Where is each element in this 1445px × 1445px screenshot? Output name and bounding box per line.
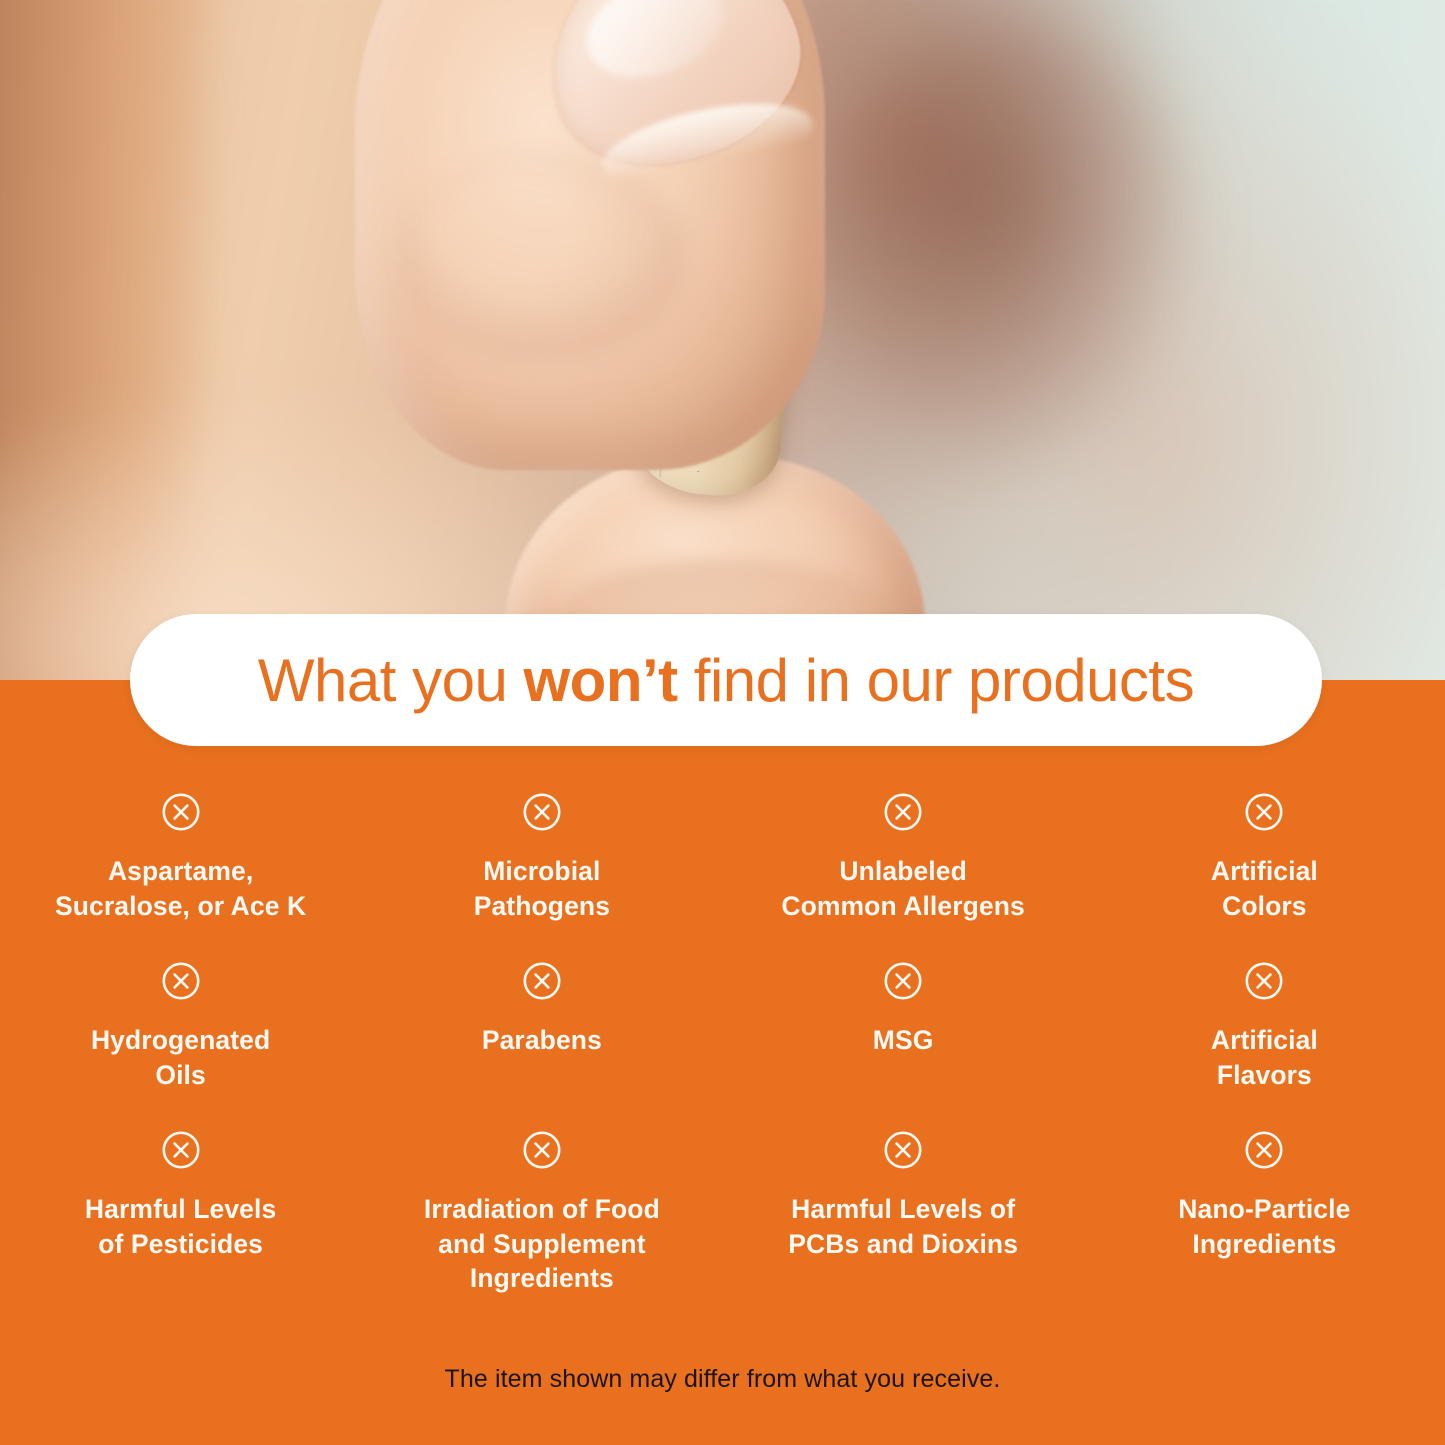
claim-label: Unlabeled Common Allergens	[781, 854, 1025, 923]
claim-item: Harmful Levels of PCBs and Dioxins	[723, 1130, 1084, 1299]
circle-x-icon	[1244, 792, 1284, 832]
claim-item: Hydrogenated Oils	[0, 961, 361, 1130]
claim-label: Parabens	[482, 1023, 602, 1058]
circle-x-icon	[1244, 1130, 1284, 1170]
claim-label: Hydrogenated Oils	[91, 1023, 270, 1092]
claim-item: Artificial Flavors	[1084, 961, 1445, 1130]
circle-x-icon	[1244, 961, 1284, 1001]
excluded-ingredients-grid: Aspartame, Sucralose, or Ace KMicrobial …	[0, 792, 1445, 1299]
claim-label: Irradiation of Food and Supplement Ingre…	[424, 1192, 660, 1296]
hand-holding-tablet	[0, 0, 1445, 690]
claim-label: Harmful Levels of Pesticides	[85, 1192, 276, 1261]
claim-label: MSG	[873, 1023, 934, 1058]
claim-label: Microbial Pathogens	[474, 854, 610, 923]
circle-x-icon	[883, 1130, 923, 1170]
title-banner: What you won’t find in our products	[130, 614, 1322, 746]
circle-x-icon	[161, 1130, 201, 1170]
claim-item: Artificial Colors	[1084, 792, 1445, 961]
claim-label: Aspartame, Sucralose, or Ace K	[55, 854, 306, 923]
circle-x-icon	[161, 961, 201, 1001]
claim-item: Unlabeled Common Allergens	[723, 792, 1084, 961]
title-emphasis: won’t	[524, 647, 678, 714]
product-claims-infographic: What you won’t find in our products Aspa…	[0, 0, 1445, 1445]
claim-item: Irradiation of Food and Supplement Ingre…	[361, 1130, 722, 1299]
circle-x-icon	[522, 1130, 562, 1170]
circle-x-icon	[161, 792, 201, 832]
claim-label: Artificial Flavors	[1211, 1023, 1318, 1092]
claim-label: Nano-Particle Ingredients	[1178, 1192, 1350, 1261]
page-title: What you won’t find in our products	[258, 646, 1194, 715]
circle-x-icon	[522, 792, 562, 832]
title-part-2: find in our products	[678, 647, 1194, 714]
claim-item: Harmful Levels of Pesticides	[0, 1130, 361, 1299]
claim-item: Nano-Particle Ingredients	[1084, 1130, 1445, 1299]
claim-item: Aspartame, Sucralose, or Ace K	[0, 792, 361, 961]
disclaimer-text: The item shown may differ from what you …	[0, 1365, 1445, 1394]
claim-item: Parabens	[361, 961, 722, 1130]
circle-x-icon	[883, 961, 923, 1001]
product-photo	[0, 0, 1445, 690]
claim-label: Harmful Levels of PCBs and Dioxins	[788, 1192, 1018, 1261]
title-part-1: What you	[258, 647, 524, 714]
claim-item: MSG	[723, 961, 1084, 1130]
circle-x-icon	[883, 792, 923, 832]
claim-item: Microbial Pathogens	[361, 792, 722, 961]
circle-x-icon	[522, 961, 562, 1001]
claim-label: Artificial Colors	[1211, 854, 1318, 923]
